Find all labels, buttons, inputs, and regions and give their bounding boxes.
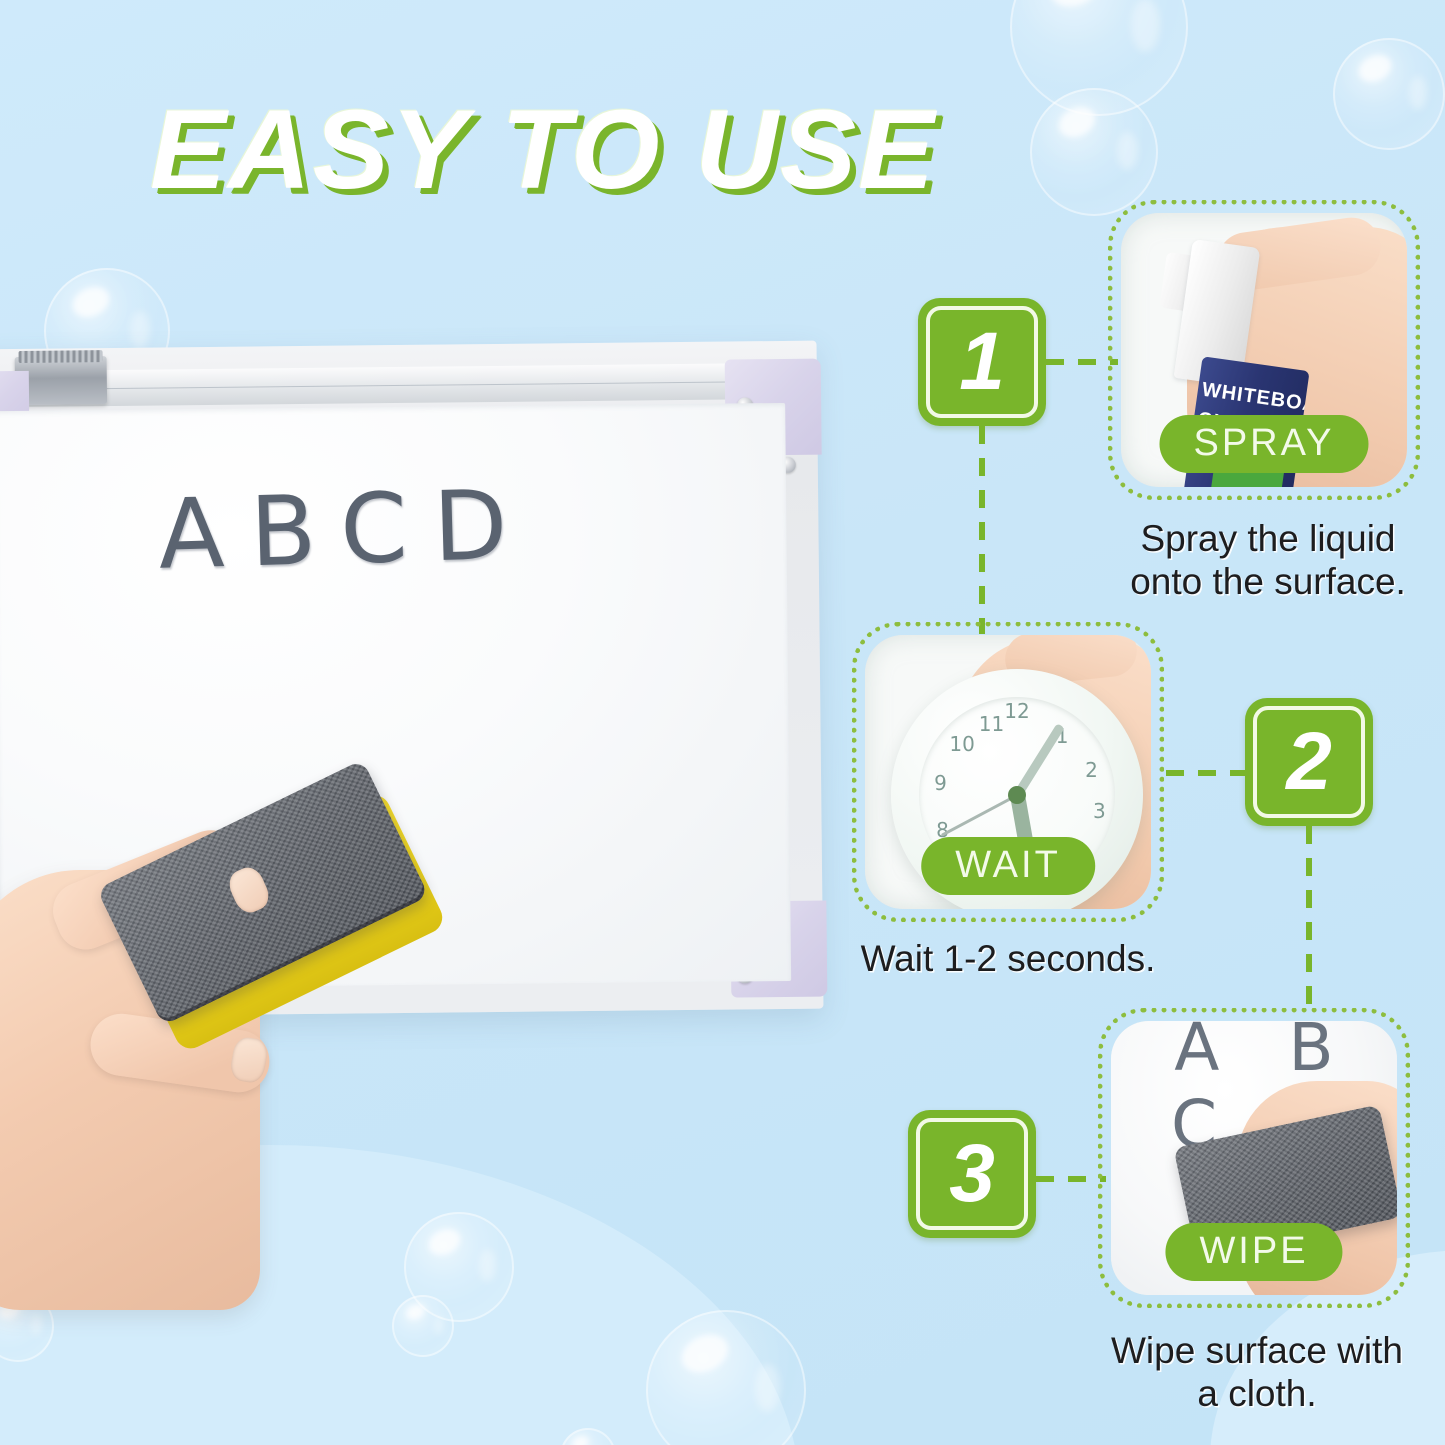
clock-numeral: 2 <box>1085 758 1098 782</box>
panel-spray: WHITEBOARD CLEANER SPRAY <box>1108 200 1420 500</box>
pill-label-spray: SPRAY <box>1159 415 1368 473</box>
step-badge-2[interactable]: 2 <box>1245 698 1373 826</box>
caption-spray: Spray the liquid onto the surface. <box>1106 518 1430 604</box>
page-title: EASY TO USE <box>150 85 936 214</box>
bubble-decoration <box>1030 88 1158 216</box>
caption-wipe: Wipe surface with a cloth. <box>1092 1330 1422 1416</box>
clock-center-pin <box>1008 786 1026 804</box>
whiteboard-top-rail <box>0 363 791 407</box>
connector-step3-to-wipe <box>1036 1176 1106 1182</box>
clock-numeral: 11 <box>979 712 1004 736</box>
step-badge-1[interactable]: 1 <box>918 298 1046 426</box>
step-number-3: 3 <box>949 1133 995 1215</box>
clock-numeral: 9 <box>934 771 947 795</box>
panel-wipe-photo: A B C D WIPE <box>1111 1021 1397 1295</box>
whiteboard-written-letters: ABCD <box>157 468 535 590</box>
connector-step1-to-wait <box>979 426 985 634</box>
panel-wait-photo: 12 1 2 3 4 5 6 7 8 9 10 11 <box>865 635 1151 909</box>
pill-label-wait: WAIT <box>921 837 1095 895</box>
pill-label-wipe: WIPE <box>1165 1223 1342 1281</box>
bubble-decoration <box>1333 38 1445 150</box>
step-badge-3[interactable]: 3 <box>908 1110 1036 1238</box>
panel-wipe: A B C D WIPE <box>1098 1008 1410 1308</box>
connector-step2-to-wipe <box>1306 826 1312 1004</box>
clock-numeral: 12 <box>1004 699 1029 723</box>
clock-second-hand <box>940 794 1017 837</box>
hand-holding-eraser <box>0 800 480 1320</box>
step-number-1: 1 <box>959 321 1005 403</box>
caption-wait: Wait 1-2 seconds. <box>846 938 1170 981</box>
panel-spray-photo: WHITEBOARD CLEANER SPRAY <box>1121 213 1407 487</box>
connector-step2-to-wait <box>1166 770 1248 776</box>
clock-numeral: 3 <box>1093 799 1106 823</box>
step-number-2: 2 <box>1286 721 1332 803</box>
panel-wait: 12 1 2 3 4 5 6 7 8 9 10 11 <box>852 622 1164 922</box>
infographic-canvas: EASY TO USE ABCD 1 <box>0 0 1445 1445</box>
clock-numeral: 10 <box>949 732 974 756</box>
